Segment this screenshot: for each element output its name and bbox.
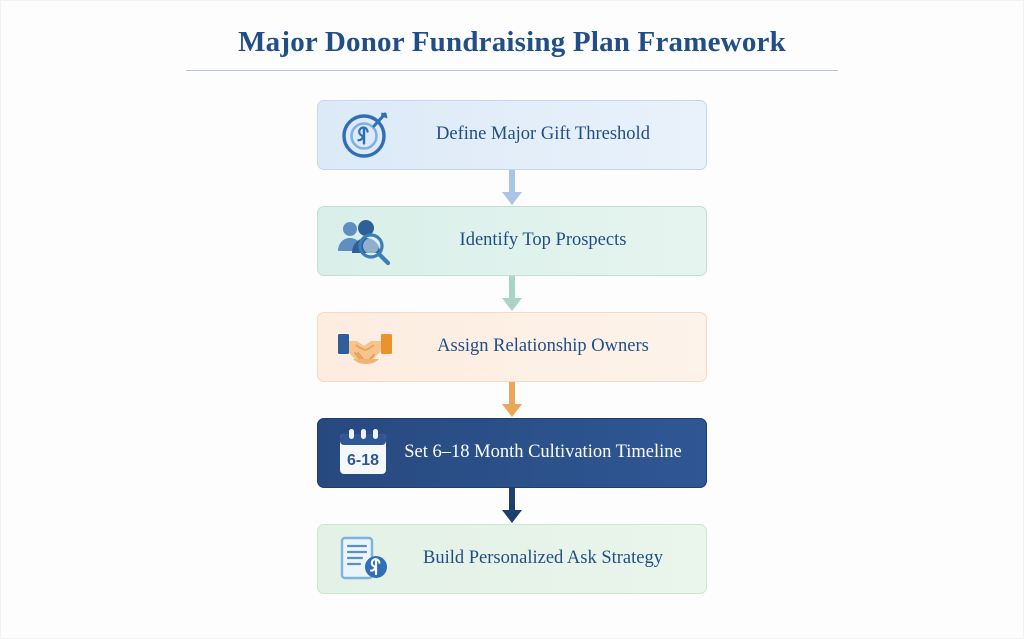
card-label: Identify Top Prospects (394, 230, 706, 251)
document-dollar-icon (336, 533, 394, 585)
card-set-cultivation-timeline[interactable]: 6-18 Set 6–18 Month Cultivation Timeline (317, 418, 707, 488)
calendar-icon-text: 6-18 (347, 452, 379, 469)
flow-step-define-major-gift-threshold: Define Major Gift Threshold (0, 100, 1024, 170)
card-build-personalized-ask-strategy[interactable]: Build Personalized Ask Strategy (317, 524, 707, 594)
flow-step-build-personalized-ask-strategy: Build Personalized Ask Strategy (0, 524, 1024, 594)
card-assign-relationship-owners[interactable]: Assign Relationship Owners (317, 312, 707, 382)
people-magnifier-icon (336, 215, 394, 267)
connector-3 (500, 382, 524, 418)
flow-step-assign-relationship-owners: Assign Relationship Owners (0, 312, 1024, 382)
calendar-icon: 6-18 (336, 427, 394, 479)
connector-1 (500, 170, 524, 206)
title-divider (186, 70, 838, 71)
connector-2 (500, 276, 524, 312)
diagram-canvas: Major Donor Fundraising Plan Framework D… (0, 0, 1024, 639)
flow-step-identify-top-prospects: Identify Top Prospects (0, 206, 1024, 276)
card-label: Define Major Gift Threshold (394, 124, 706, 145)
card-label: Set 6–18 Month Cultivation Timeline (394, 442, 706, 463)
card-define-major-gift-threshold[interactable]: Define Major Gift Threshold (317, 100, 707, 170)
connector-4 (500, 488, 524, 524)
card-label: Assign Relationship Owners (394, 336, 706, 357)
target-dollar-icon (336, 109, 394, 161)
page-title: Major Donor Fundraising Plan Framework (0, 26, 1024, 59)
card-label: Build Personalized Ask Strategy (394, 548, 706, 569)
flow-step-set-cultivation-timeline: 6-18 Set 6–18 Month Cultivation Timeline (0, 418, 1024, 488)
card-identify-top-prospects[interactable]: Identify Top Prospects (317, 206, 707, 276)
handshake-icon (336, 321, 394, 373)
flowchart: Define Major Gift Threshold (0, 100, 1024, 594)
